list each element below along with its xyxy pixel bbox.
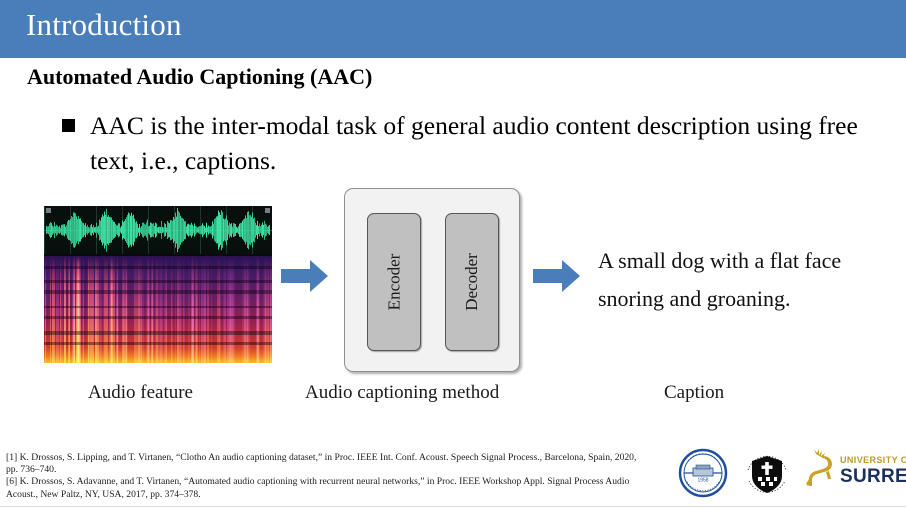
audio-captioning-method-label: Audio captioning method: [305, 382, 499, 404]
aac-pipeline-diagram: Encoder Decoder A small dog with a flat …: [0, 186, 906, 406]
slide: Introduction Automated Audio Captioning …: [0, 0, 906, 508]
footer-logos: 1958: [672, 448, 904, 500]
surrey-wordmark: UNIVERSITY OF SURREY: [840, 456, 906, 486]
surrey-line-2: SURREY: [840, 467, 906, 486]
xjtu-year-text: 1958: [697, 478, 708, 484]
xjtu-seal-logo: 1958: [678, 448, 728, 498]
waveform-pane: [44, 206, 272, 254]
surrey-stag-icon: [804, 448, 838, 492]
decoder-label: Decoder: [462, 253, 482, 311]
page-title: Introduction: [26, 7, 182, 43]
audio-feature-image: [44, 206, 272, 363]
spectrogram-pane: [44, 256, 272, 363]
slide-title-bar: Introduction: [0, 0, 906, 58]
bullet-text: AAC is the inter-modal task of general a…: [90, 108, 880, 178]
section-heading: Automated Audio Captioning (AAC): [27, 64, 372, 90]
square-bullet-icon: [62, 119, 75, 132]
waveform-corner-marker-left: [46, 208, 51, 213]
decoder-block: Decoder: [445, 213, 499, 351]
uts-shield-logo: [740, 448, 794, 498]
right-arrow-icon-2: [533, 258, 581, 294]
university-of-surrey-logo: UNIVERSITY OF SURREY: [804, 448, 904, 496]
reference-item-2: [6] K. Drossos, S. Adavanne, and T. Virt…: [6, 476, 646, 500]
surrey-line-1: UNIVERSITY OF: [840, 456, 906, 465]
right-arrow-icon-1: [281, 258, 329, 294]
waveform-corner-marker-right: [265, 208, 270, 213]
reference-item-1: [1] K. Drossos, S. Lipping, and T. Virta…: [6, 452, 646, 476]
waveform-bars: [44, 206, 272, 254]
audio-captioning-method-box: Encoder Decoder: [344, 188, 520, 372]
encoder-block: Encoder: [367, 213, 421, 351]
bullet-list-item: AAC is the inter-modal task of general a…: [62, 108, 892, 178]
audio-feature-label: Audio feature: [88, 382, 193, 404]
caption-label: Caption: [664, 382, 724, 404]
encoder-label: Encoder: [384, 254, 404, 311]
references-block: [1] K. Drossos, S. Lipping, and T. Virta…: [6, 452, 646, 501]
generated-caption-text: A small dog with a flat face snoring and…: [598, 242, 898, 318]
footer-divider: [0, 506, 906, 507]
